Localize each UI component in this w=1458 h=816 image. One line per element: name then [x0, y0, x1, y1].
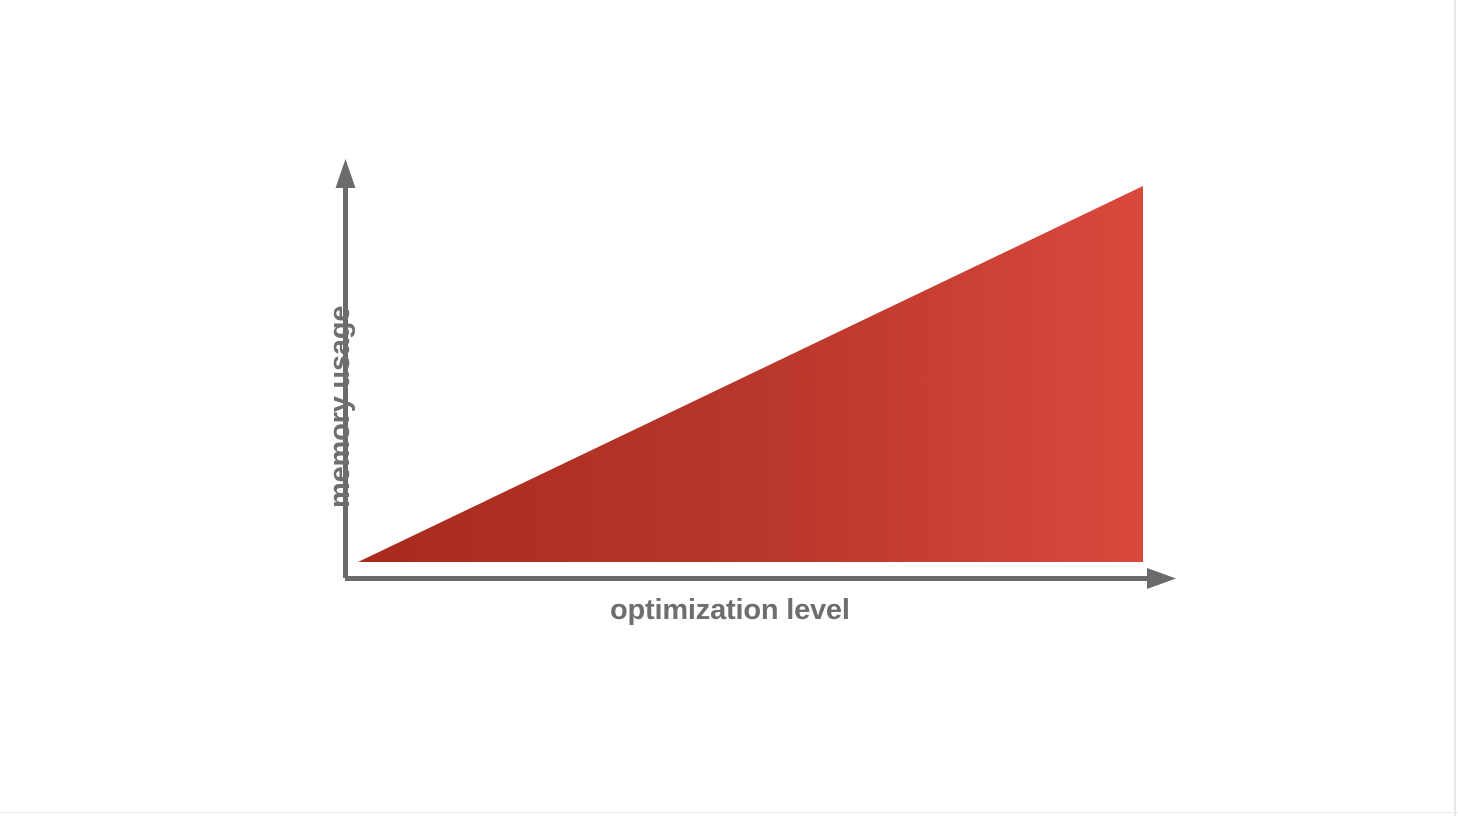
- chart-canvas: optimization level memory usage: [0, 0, 1458, 816]
- arrow-up-icon: [336, 159, 356, 188]
- x-axis-label: optimization level: [0, 594, 1458, 627]
- area-series-memory-usage: [358, 186, 1143, 562]
- plot-area: [0, 0, 1458, 816]
- arrow-right-icon: [1147, 568, 1176, 589]
- y-axis-label: memory usage: [324, 306, 357, 508]
